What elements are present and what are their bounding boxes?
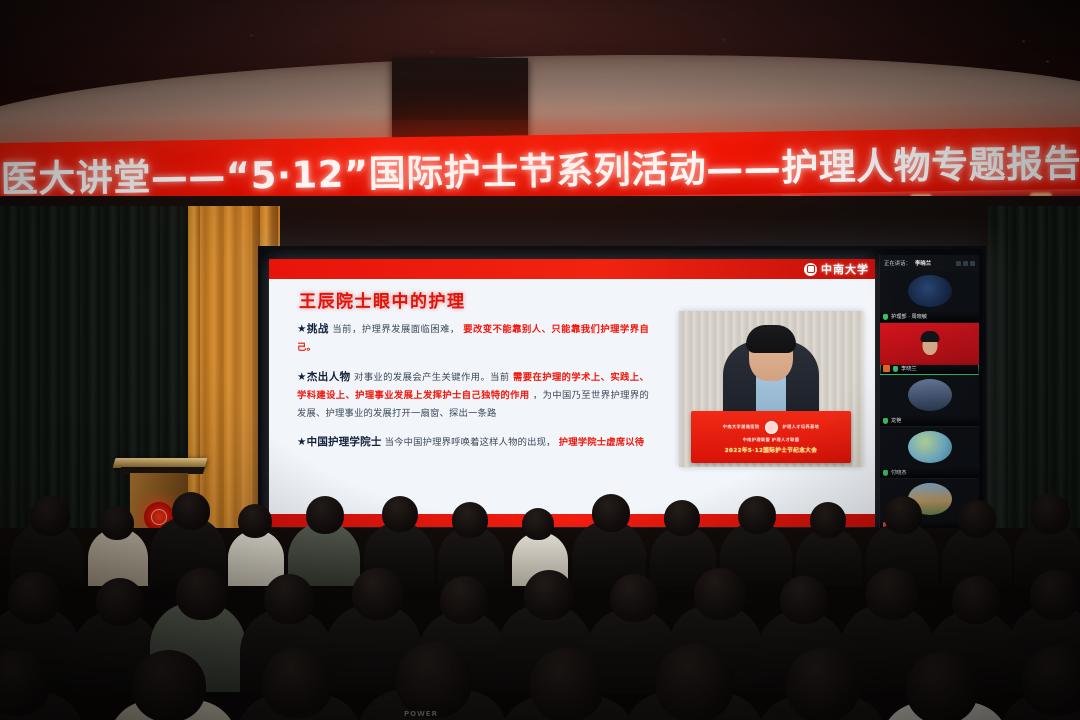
rail-controls[interactable] <box>956 261 975 266</box>
participant-avatar <box>880 323 979 365</box>
participant-tile[interactable]: 龙艳 <box>880 375 979 427</box>
bullet-highlight: 护理学院士虚席以待 <box>559 437 644 448</box>
podium-emblem-icon <box>765 421 778 434</box>
ceiling-speck <box>1046 60 1049 63</box>
participant-tile-active[interactable]: 李晓兰 <box>880 323 979 375</box>
ceiling-speck <box>722 38 725 41</box>
participant-avatar <box>908 431 952 463</box>
speaking-label: 正在讲话： <box>884 259 911 267</box>
participant-name: 龙艳 <box>891 417 901 424</box>
bullet-plain: 当前，护理界发展面临困难， <box>332 324 459 335</box>
microphone-icon <box>883 314 888 320</box>
speaking-name: 李晓兰 <box>915 259 931 267</box>
ceiling-speck <box>1022 40 1025 43</box>
slide-header-bar: 中南大学 <box>269 259 875 279</box>
auditorium-scene: 医大讲堂——“5·12”国际护士节系列活动——护理人物专题报告 中南大学 王辰院… <box>0 0 1080 720</box>
audience: POWER EXPLORE THE UNIVERSE <box>0 470 1080 720</box>
podium-text-left: 中南大学湘雅医院 <box>723 424 760 430</box>
speaker-podium-banner: 中南大学湘雅医院 护理人才培养基地 中南护理联盟 护理人才联盟 2022年5·1… <box>691 411 851 463</box>
slide-body: ★挑战 当前，护理界发展面临困难， 要改变不能靠别人、只能靠我们护理学界自己。 … <box>297 319 649 462</box>
speaker-video-inset: 中南大学湘雅医院 护理人才培养基地 中南护理联盟 护理人才联盟 2022年5·1… <box>679 311 863 467</box>
participant-footer: 李晓兰 <box>880 363 979 374</box>
participant-tile[interactable]: 护理部 · 周晓敏 <box>880 271 979 323</box>
speaker-hair <box>746 325 796 353</box>
bullet-plain: 对事业的发展会产生关键作用。当前 <box>354 372 510 383</box>
podium-line-2: 中南护理联盟 护理人才联盟 <box>743 437 800 443</box>
slide-title: 王辰院士眼中的护理 <box>299 287 466 312</box>
participant-name: 李晓兰 <box>901 365 917 372</box>
podium-text-right: 护理人才培养基地 <box>783 424 820 430</box>
led-banner-text: 医大讲堂——“5·12”国际护士节系列活动——护理人物专题报告 <box>1 144 1080 197</box>
university-logo: 中南大学 <box>804 260 869 278</box>
tshirt-graphic-text: POWER <box>404 710 438 720</box>
slide-bullet: ★中国护理学院士 当今中国护理界呼唤着这样人物的出现， 护理学院士虚席以待 <box>297 432 649 452</box>
microphone-icon <box>883 418 888 424</box>
university-name: 中南大学 <box>821 261 869 277</box>
bullet-lead: ★中国护理学院士 <box>297 436 382 448</box>
participant-avatar <box>908 379 952 411</box>
participant-footer: 龙艳 <box>880 415 979 426</box>
podium-line-1: 中南大学湘雅医院 护理人才培养基地 <box>723 421 819 434</box>
host-badge-icon <box>883 365 890 372</box>
ceiling-speck <box>430 50 433 53</box>
ceiling-speck <box>250 34 253 37</box>
participant-face <box>922 336 937 355</box>
podium-line-3: 2022年5·12国际护士节纪念大会 <box>725 446 818 454</box>
rail-speaking-header: 正在讲话： 李晓兰 <box>880 255 979 271</box>
participant-avatar <box>908 275 952 307</box>
participant-name: 护理部 · 周晓敏 <box>891 313 927 320</box>
bullet-plain: 当今中国护理界呼唤着这样人物的出现， <box>385 437 556 448</box>
bullet-lead: ★挑战 <box>297 323 329 335</box>
university-emblem-icon <box>804 263 817 276</box>
bullet-lead: ★杰出人物 <box>297 371 351 383</box>
microphone-icon <box>893 366 898 372</box>
slide-bullet: ★挑战 当前，护理界发展面临困难， 要改变不能靠别人、只能靠我们护理学界自己。 <box>297 319 649 358</box>
slide-bullet: ★杰出人物 对事业的发展会产生关键作用。当前 需要在护理的学术上、实践上、学科建… <box>297 367 649 424</box>
participant-footer: 护理部 · 周晓敏 <box>880 311 979 322</box>
